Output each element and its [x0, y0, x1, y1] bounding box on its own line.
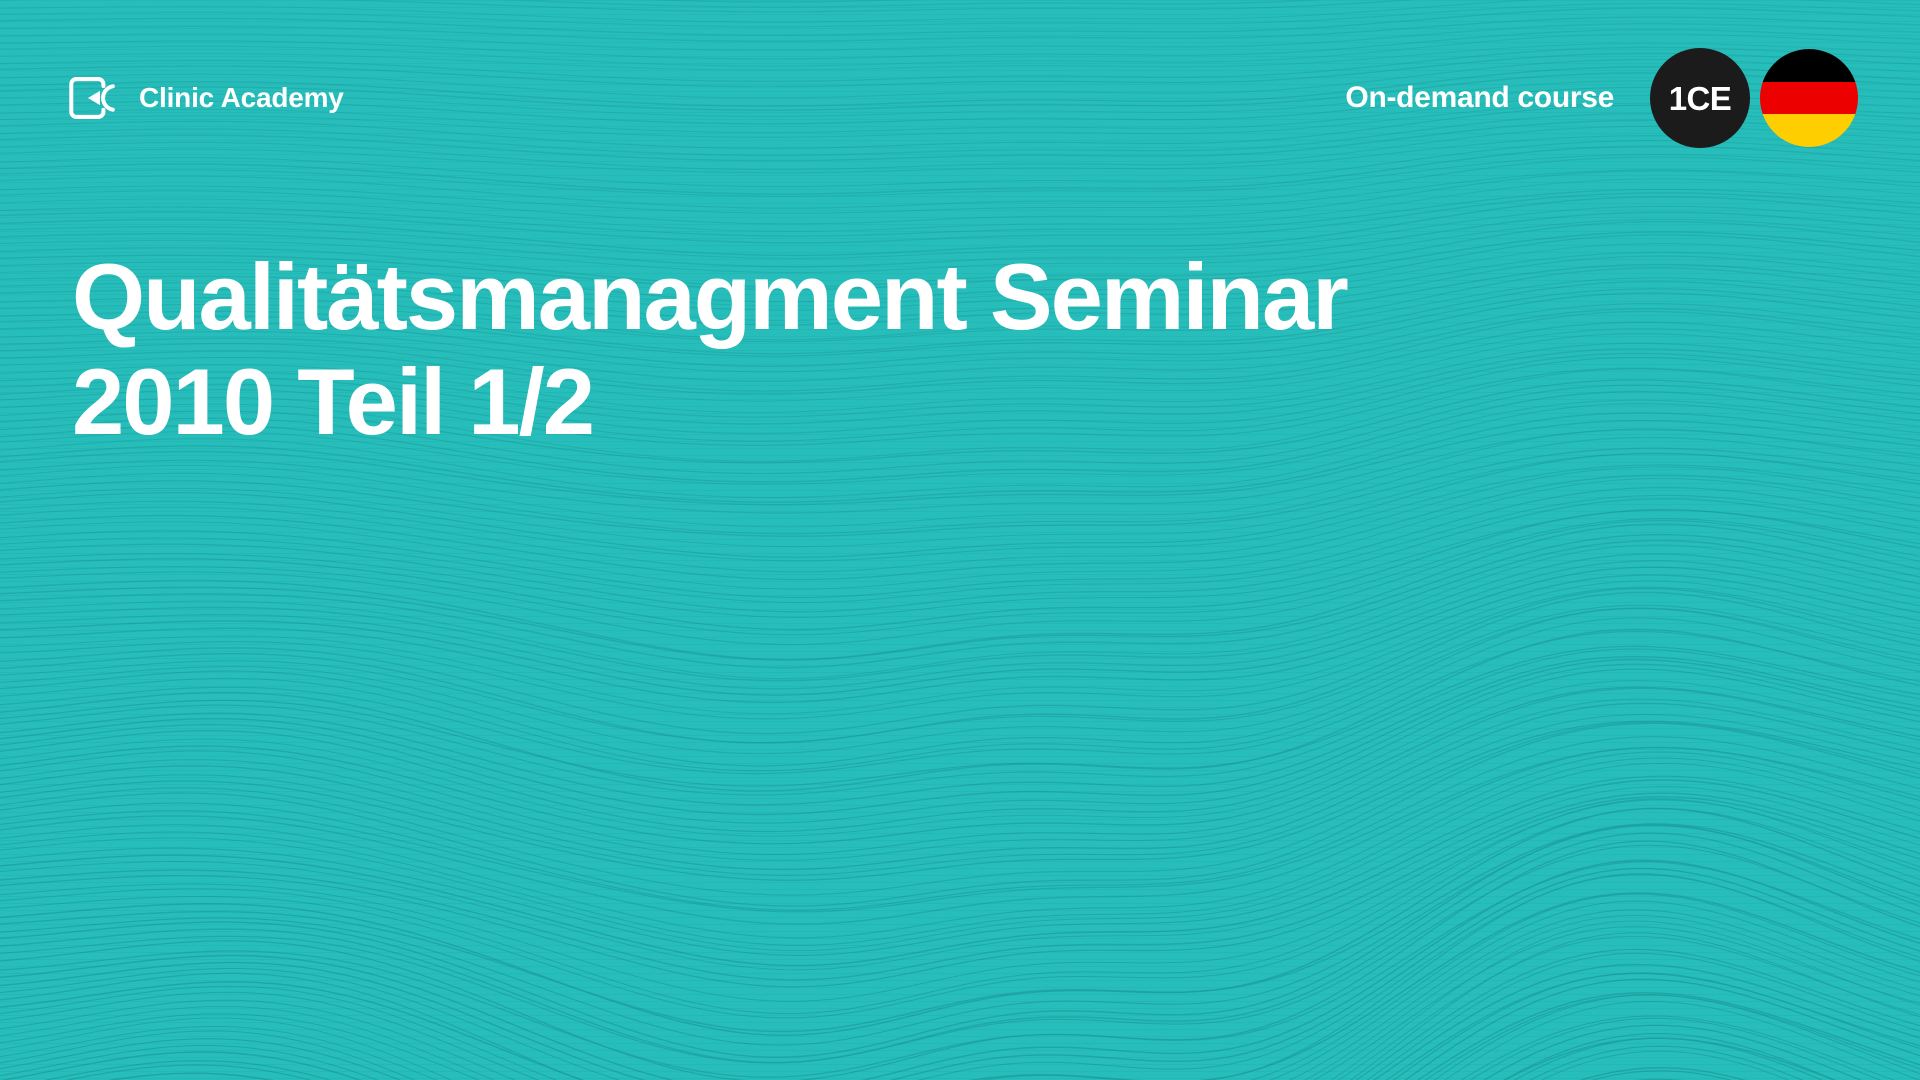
flag-band-red — [1760, 82, 1858, 115]
cover-header: Clinic Academy On-demand course 1CE — [0, 0, 1920, 196]
course-cover-card: Clinic Academy On-demand course 1CE Qual… — [0, 0, 1920, 1080]
credit-badge-label: 1CE — [1669, 82, 1731, 115]
brand-name-label: Clinic Academy — [139, 82, 344, 114]
header-meta-group: On-demand course 1CE — [1345, 48, 1858, 148]
video-camera-play-icon — [68, 76, 122, 120]
credit-badge: 1CE — [1650, 48, 1750, 148]
flag-band-black — [1760, 49, 1858, 82]
flag-band-gold — [1760, 114, 1858, 147]
badge-group: 1CE — [1650, 48, 1858, 148]
course-title-line-2: 2010 Teil 1/2 — [72, 349, 593, 454]
title-block: Qualitätsmanagment Seminar 2010 Teil 1/2 — [72, 244, 1632, 455]
brand-logo[interactable]: Clinic Academy — [68, 76, 344, 120]
course-type-label: On-demand course — [1345, 81, 1614, 115]
course-title-line-1: Qualitätsmanagment Seminar — [72, 244, 1347, 349]
flag-germany-icon — [1760, 49, 1858, 147]
course-title: Qualitätsmanagment Seminar 2010 Teil 1/2 — [72, 244, 1632, 455]
